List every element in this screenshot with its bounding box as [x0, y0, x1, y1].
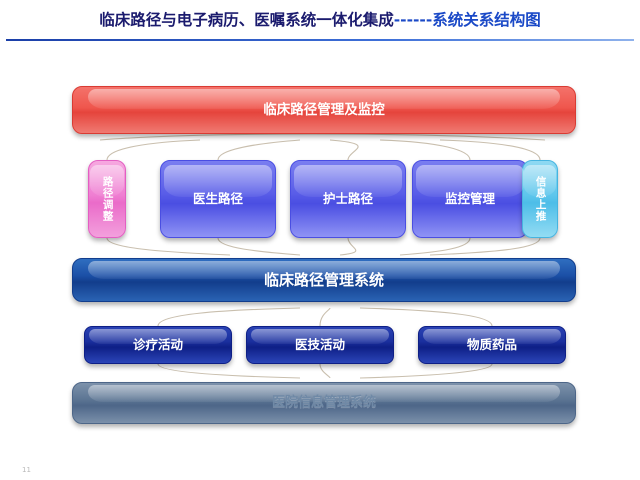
- node-label: 诊疗活动: [133, 337, 183, 353]
- node-label: 医生路径: [193, 191, 243, 207]
- node-label: 临床路径管理系统: [264, 271, 384, 290]
- title-text-group: 临床路径与电子病历、医嘱系统一体化集成------系统关系结构图: [99, 8, 541, 30]
- node-label: 护士路径: [323, 191, 373, 207]
- node-materials-medicines[interactable]: 物质药品: [418, 326, 566, 364]
- page-number: 11: [22, 466, 31, 474]
- node-label: 医院信息管理系统: [272, 395, 376, 411]
- title-divider: [6, 39, 634, 41]
- node-diagnosis-treatment-activity[interactable]: 诊疗活动: [84, 326, 232, 364]
- node-medical-technology-activity[interactable]: 医技活动: [246, 326, 394, 364]
- node-label: 临床路径管理及监控: [263, 102, 385, 119]
- node-label: 监控管理: [445, 191, 495, 207]
- node-label: 信息上推: [533, 176, 546, 222]
- page-title: 临床路径与电子病历、医嘱系统一体化集成------系统关系结构图: [0, 0, 640, 38]
- title-suffix: ------系统关系结构图: [394, 11, 541, 29]
- node-label: 物质药品: [467, 337, 517, 353]
- node-label: 医技活动: [295, 337, 345, 353]
- title-main: 临床路径与电子病历、医嘱系统一体化集成: [99, 11, 394, 29]
- slide-canvas: 临床路径与电子病历、医嘱系统一体化集成------系统关系结构图: [0, 0, 640, 480]
- node-label: 路径调整: [100, 176, 113, 222]
- node-information-push-up[interactable]: 信息上推: [522, 160, 558, 238]
- node-monitoring-management[interactable]: 监控管理: [412, 160, 528, 238]
- node-hospital-information-management-system[interactable]: 医院信息管理系统: [72, 382, 576, 424]
- node-doctor-pathway[interactable]: 医生路径: [160, 160, 276, 238]
- node-clinical-pathway-management-monitoring[interactable]: 临床路径管理及监控: [72, 86, 576, 134]
- node-clinical-pathway-management-system[interactable]: 临床路径管理系统: [72, 258, 576, 302]
- node-nurse-pathway[interactable]: 护士路径: [290, 160, 406, 238]
- node-pathway-adjustment[interactable]: 路径调整: [88, 160, 126, 238]
